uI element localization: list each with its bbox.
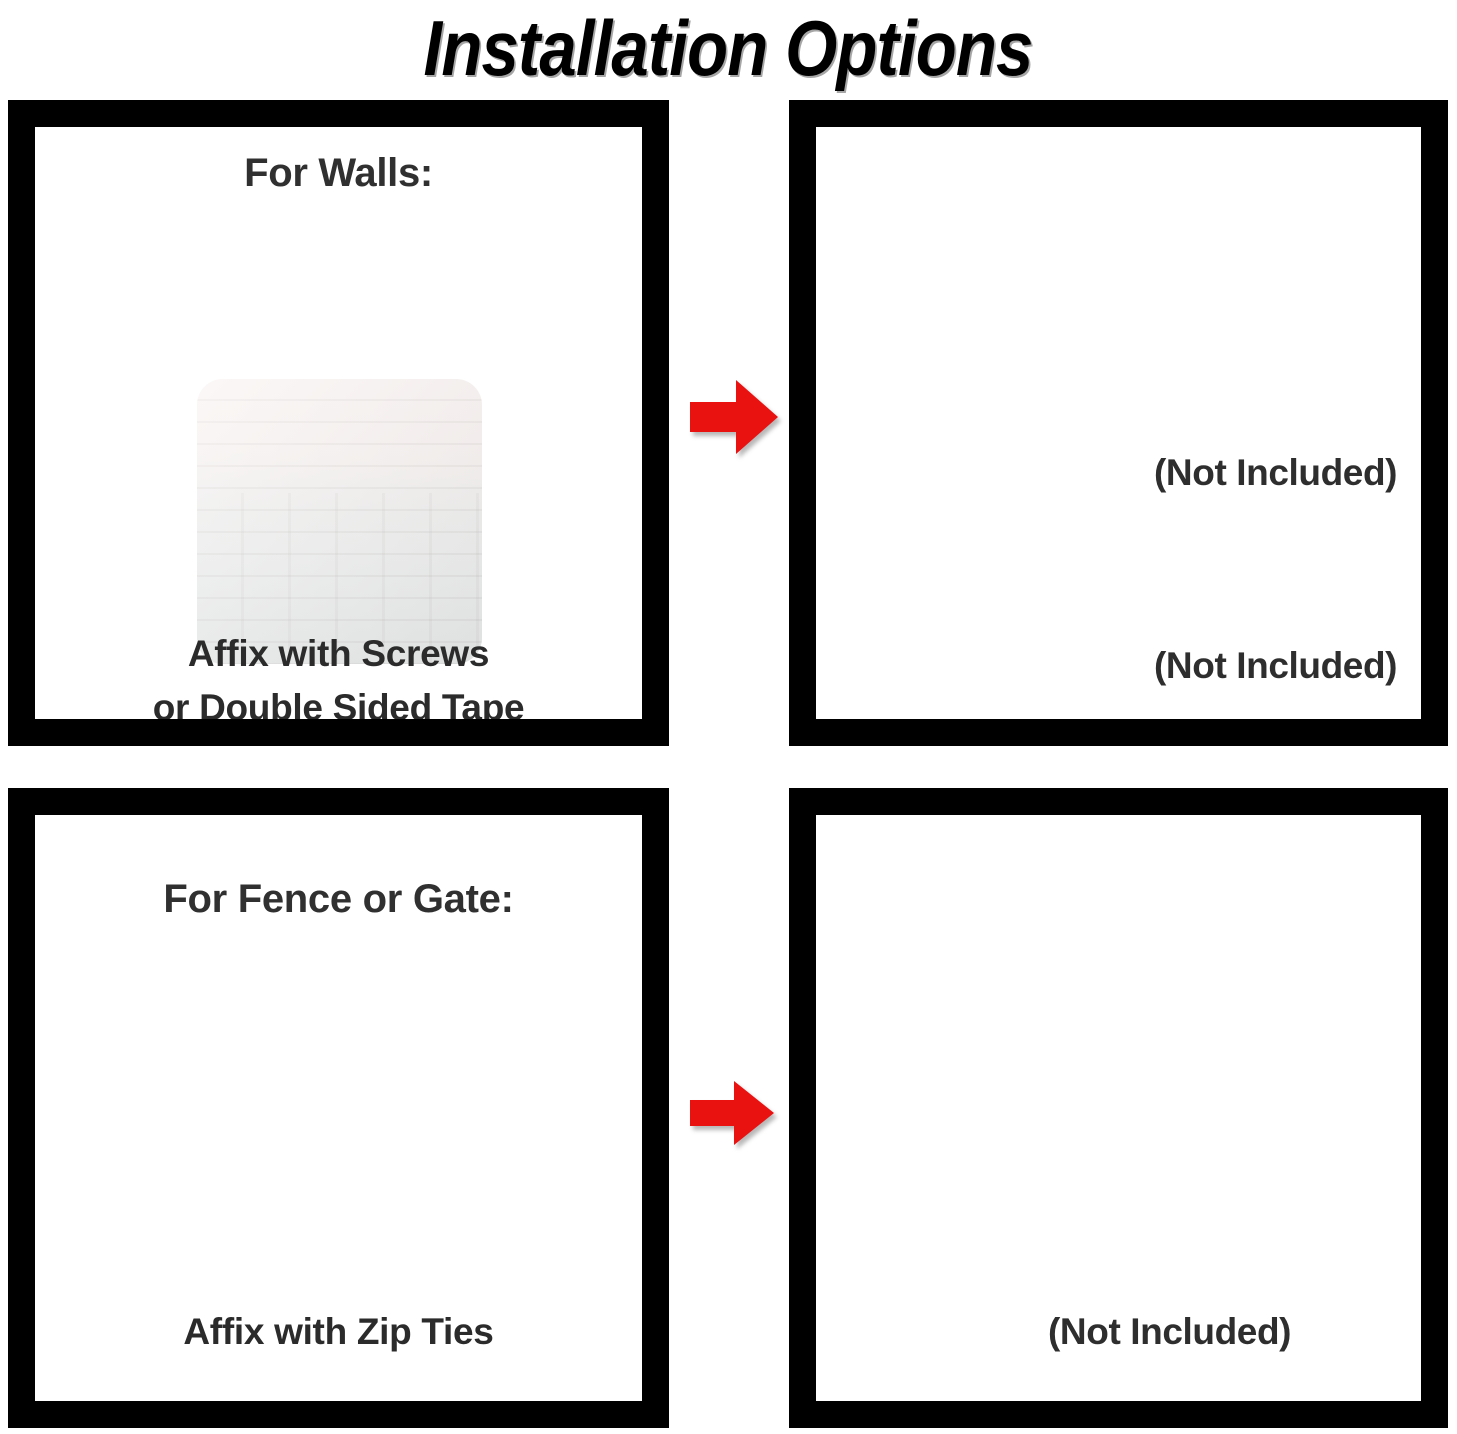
panel-for-walls-inner: For Walls: Affix with Screws or Double S… — [35, 127, 642, 719]
panel-wall-hardware-inner: (Not Included) — [816, 127, 1421, 719]
brick-shading — [197, 379, 482, 664]
panel-for-walls: For Walls: Affix with Screws or Double S… — [8, 100, 669, 746]
panel-for-walls-caption-line1: Affix with Screws — [35, 627, 642, 681]
panel-for-walls-caption-line2: or Double Sided Tape — [35, 681, 642, 719]
wall-photo — [197, 379, 482, 664]
panel-for-fence-caption: Affix with Zip Ties — [35, 1305, 642, 1359]
panel-fence-hardware-inner: (Not Included) — [816, 815, 1421, 1401]
panel-for-fence-heading: For Fence or Gate: — [35, 877, 642, 922]
panel-for-fence-or-gate: For Fence or Gate: — [8, 788, 669, 1428]
panel-for-walls-heading: For Walls: — [35, 151, 642, 196]
page-title: Installation Options — [424, 9, 1033, 87]
panel-for-fence-or-gate-inner: For Fence or Gate: — [35, 815, 642, 1401]
arrow-right-icon-bottom — [688, 1078, 776, 1148]
panel-wall-hardware: (Not Included) — [789, 100, 1448, 746]
arrow-right-icon-top — [688, 376, 780, 458]
page-title-bar: Installation Options — [0, 0, 1457, 96]
panel-fence-hardware: (Not Included) — [789, 788, 1448, 1428]
zip-ties-not-included-label: (Not Included) — [1048, 1311, 1291, 1353]
screws-not-included-label: (Not Included) — [1154, 645, 1397, 687]
tape-not-included-label: (Not Included) — [1154, 452, 1397, 494]
